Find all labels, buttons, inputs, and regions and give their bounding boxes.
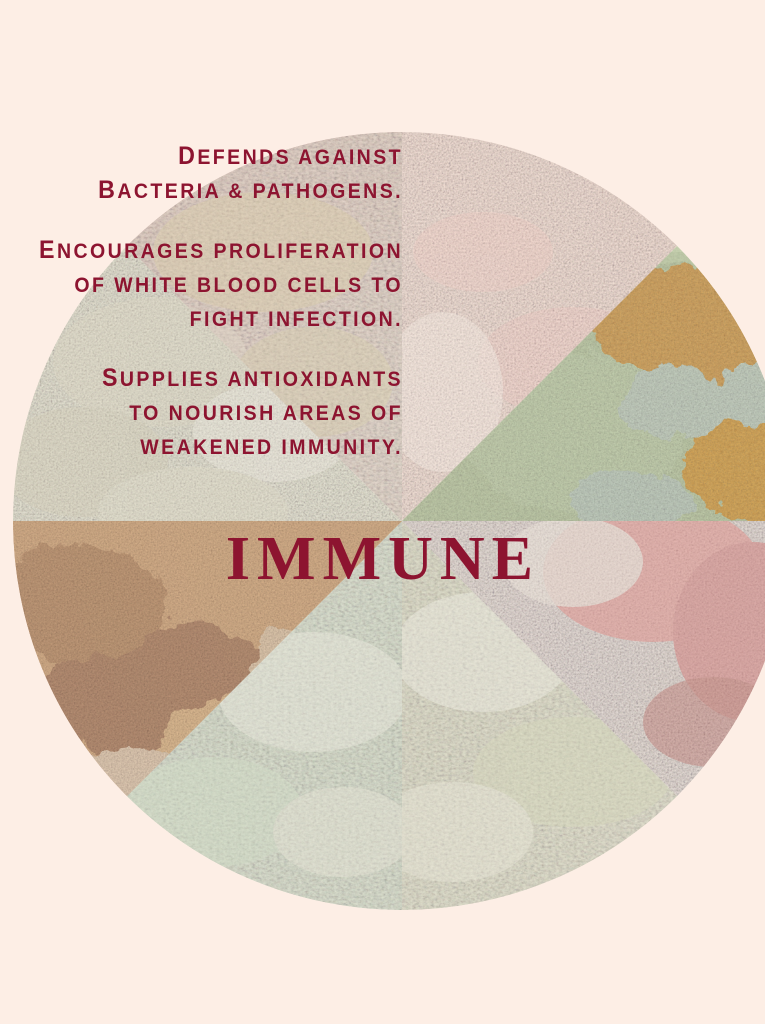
paragraph-encourages: ENCOURAGES PROLIFERATION OF WHITE BLOOD … bbox=[0, 234, 403, 336]
benefit-copy: DEFENDS AGAINST BACTERIA & PATHOGENS. EN… bbox=[0, 140, 403, 464]
line-cap: D bbox=[178, 142, 197, 170]
line-rest: OF WHITE BLOOD CELLS TO bbox=[74, 274, 403, 297]
line-rest: EFENDS AGAINST bbox=[197, 146, 403, 169]
copy-line: FIGHT INFECTION. bbox=[28, 302, 403, 336]
line-cap: E bbox=[39, 236, 57, 264]
line-cap: B bbox=[98, 176, 117, 204]
line-rest: FIGHT INFECTION. bbox=[190, 308, 403, 331]
line-rest: ACTERIA & PATHOGENS. bbox=[117, 180, 403, 203]
line-rest: UPPLIES ANTIOXIDANTS bbox=[120, 368, 403, 391]
paragraph-defends: DEFENDS AGAINST BACTERIA & PATHOGENS. bbox=[0, 140, 403, 208]
copy-line: OF WHITE BLOOD CELLS TO bbox=[28, 268, 403, 302]
page-title: IMMUNE bbox=[0, 528, 540, 590]
line-rest: TO NOURISH AREAS OF bbox=[129, 402, 403, 425]
line-cap: S bbox=[102, 364, 120, 392]
copy-line: WEAKENED IMMUNITY. bbox=[28, 430, 403, 464]
line-rest: NCOURAGES PROLIFERATION bbox=[57, 240, 403, 263]
immune-poster: DEFENDS AGAINST BACTERIA & PATHOGENS. EN… bbox=[0, 0, 765, 1024]
paragraph-supplies: SUPPLIES ANTIOXIDANTS TO NOURISH AREAS O… bbox=[0, 362, 403, 464]
copy-line: SUPPLIES ANTIOXIDANTS bbox=[28, 362, 403, 396]
copy-line: ENCOURAGES PROLIFERATION bbox=[28, 234, 403, 268]
line-rest: WEAKENED IMMUNITY. bbox=[140, 436, 403, 459]
copy-line: TO NOURISH AREAS OF bbox=[28, 396, 403, 430]
copy-line: BACTERIA & PATHOGENS. bbox=[28, 174, 403, 208]
copy-line: DEFENDS AGAINST bbox=[28, 140, 403, 174]
